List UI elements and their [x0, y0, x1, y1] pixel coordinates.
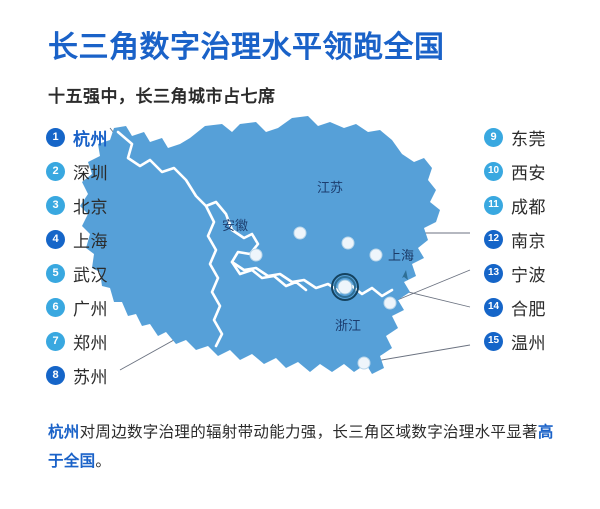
- marker-nanjing[interactable]: [294, 227, 306, 239]
- footer-note: 杭州对周边数字治理的辐射带动能力强，长三角区域数字治理水平显著高于全国。: [48, 418, 558, 476]
- footer-text-end: 。: [95, 453, 111, 470]
- rank-city-name-5: 武汉: [73, 261, 108, 286]
- city-label-shanghai: 上海: [388, 248, 414, 263]
- rank-item-12[interactable]: 12 南京: [484, 222, 600, 256]
- rank-city-name-10: 西安: [511, 159, 546, 184]
- rank-city-name-7: 郑州: [73, 329, 108, 354]
- rank-badge-14: 14: [484, 298, 503, 317]
- rank-badge-15: 15: [484, 332, 503, 351]
- marker-hangzhou-highlight[interactable]: [332, 274, 358, 300]
- rank-city-name-8: 苏州: [73, 363, 108, 388]
- ranking-list-right: 9 东莞 10 西安 11 成都 12 南京 13 宁波 14 合肥 15 温州: [484, 120, 600, 358]
- marker-wenzhou[interactable]: [358, 357, 370, 369]
- rank-city-name-6: 广州: [73, 295, 108, 320]
- rank-city-name-9: 东莞: [511, 125, 546, 150]
- rank-item-2[interactable]: 2 深圳: [46, 154, 186, 188]
- rank-item-13[interactable]: 13 宁波: [484, 256, 600, 290]
- marker-suzhou[interactable]: [342, 237, 354, 249]
- rank-city-name-11: 成都: [511, 193, 546, 218]
- map-city-labels: 上海: [388, 248, 414, 263]
- rank-item-8[interactable]: 8 苏州: [46, 358, 186, 392]
- rank-badge-4: 4: [46, 230, 65, 249]
- rank-city-name-14: 合肥: [511, 295, 546, 320]
- rank-city-name-12: 南京: [511, 227, 546, 252]
- province-label-jiangsu: 江苏: [317, 180, 343, 195]
- rank-city-name-1: 杭州: [73, 125, 108, 150]
- rank-item-10[interactable]: 10 西安: [484, 154, 600, 188]
- rank-item-3[interactable]: 3 北京: [46, 188, 186, 222]
- province-label-anhui: 安徽: [222, 218, 248, 233]
- rank-item-7[interactable]: 7 郑州: [46, 324, 186, 358]
- rank-badge-1: 1: [46, 128, 65, 147]
- rank-city-name-15: 温州: [511, 329, 546, 354]
- rank-item-15[interactable]: 15 温州: [484, 324, 600, 358]
- rank-item-14[interactable]: 14 合肥: [484, 290, 600, 324]
- rank-badge-11: 11: [484, 196, 503, 215]
- rank-item-5[interactable]: 5 武汉: [46, 256, 186, 290]
- rank-badge-10: 10: [484, 162, 503, 181]
- rank-badge-9: 9: [484, 128, 503, 147]
- marker-hefei[interactable]: [250, 249, 262, 261]
- marker-shanghai[interactable]: [370, 249, 382, 261]
- rank-item-4[interactable]: 4 上海: [46, 222, 186, 256]
- rank-item-11[interactable]: 11 成都: [484, 188, 600, 222]
- rank-item-6[interactable]: 6 广州: [46, 290, 186, 324]
- rank-item-1[interactable]: 1 杭州: [46, 120, 186, 154]
- rank-item-9[interactable]: 9 东莞: [484, 120, 600, 154]
- header: 长三角数字治理水平领跑全国 十五强中，长三角城市占七席: [0, 0, 600, 118]
- rank-city-name-4: 上海: [73, 227, 108, 252]
- rank-badge-6: 6: [46, 298, 65, 317]
- marker-ningbo[interactable]: [384, 297, 396, 309]
- rank-badge-13: 13: [484, 264, 503, 283]
- footer-highlight-city: 杭州: [48, 424, 80, 441]
- rank-badge-12: 12: [484, 230, 503, 249]
- footer-text-body: 对周边数字治理的辐射带动能力强，长三角区域数字治理水平显著: [80, 424, 538, 441]
- rank-badge-3: 3: [46, 196, 65, 215]
- rank-badge-8: 8: [46, 366, 65, 385]
- rank-city-name-3: 北京: [73, 193, 108, 218]
- rank-city-name-13: 宁波: [511, 261, 546, 286]
- province-label-zhejiang: 浙江: [335, 318, 361, 333]
- page-subtitle: 十五强中，长三角城市占七席: [48, 82, 276, 107]
- page-title: 长三角数字治理水平领跑全国: [48, 22, 445, 66]
- rank-badge-7: 7: [46, 332, 65, 351]
- rank-badge-5: 5: [46, 264, 65, 283]
- rank-city-name-2: 深圳: [73, 159, 108, 184]
- rank-badge-2: 2: [46, 162, 65, 181]
- ranking-list-left: 1 杭州 2 深圳 3 北京 4 上海 5 武汉 6 广州 7 郑州 8 苏州: [46, 120, 186, 392]
